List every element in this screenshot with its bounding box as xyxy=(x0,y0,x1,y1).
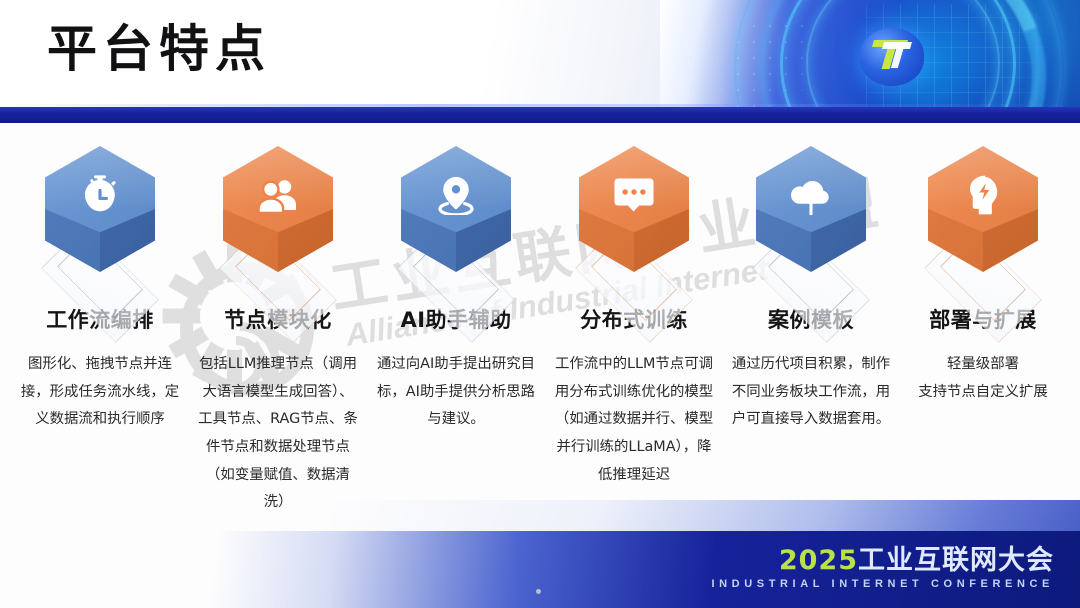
feature-card-5[interactable]: 案例模板通过历代项目积累，制作不同业务板块工作流，用户可直接导入数据套用。 xyxy=(723,140,899,434)
title-rule xyxy=(0,107,1080,123)
location-pin-icon xyxy=(401,164,511,226)
feature-columns: 工作流编排图形化、拖拽节点并连接，形成任务流水线，定义数据流和执行顺序节点模块化… xyxy=(0,140,1080,540)
conference-name-cn: 工业互联网大会 xyxy=(858,545,1054,576)
users-icon xyxy=(223,164,333,226)
feature-desc-4: 工作流中的LLM节点可调用分布式训练优化的模型（如通过数据并行、模型并行训练的L… xyxy=(546,351,722,489)
feature-card-6[interactable]: 部署与扩展轻量级部署支持节点自定义扩展 xyxy=(895,140,1071,406)
feature-card-4[interactable]: 分布式训练工作流中的LLM节点可调用分布式训练优化的模型（如通过数据并行、模型并… xyxy=(546,140,722,489)
hex-badge-1 xyxy=(12,140,188,290)
hex-badge-6 xyxy=(895,140,1071,290)
cloud-upload-icon xyxy=(756,164,866,226)
feature-desc-3: 通过向AI助手提出研究目标，AI助手提供分析思路与建议。 xyxy=(368,351,544,434)
feature-desc-1: 图形化、拖拽节点并连接，形成任务流水线，定义数据流和执行顺序 xyxy=(12,351,188,434)
conference-logo: 2025工业互联网大会 INDUSTRIAL INTERNET CONFEREN… xyxy=(711,547,1054,590)
chat-bubble-icon xyxy=(579,164,689,226)
hex-badge-4 xyxy=(546,140,722,290)
hex-badge-3 xyxy=(368,140,544,290)
slide-header: 平台特点 xyxy=(0,0,1080,112)
feature-card-1[interactable]: 工作流编排图形化、拖拽节点并连接，形成任务流水线，定义数据流和执行顺序 xyxy=(12,140,188,434)
header-dot-matrix xyxy=(666,18,816,108)
t-logo-icon xyxy=(873,40,913,70)
feature-desc-5: 通过历代项目积累，制作不同业务板块工作流，用户可直接导入数据套用。 xyxy=(723,351,899,434)
feature-card-3[interactable]: AI助手辅助通过向AI助手提出研究目标，AI助手提供分析思路与建议。 xyxy=(368,140,544,434)
feature-desc-2: 包括LLM推理节点（调用大语言模型生成回答）、工具节点、RAG节点、条件节点和数… xyxy=(190,351,366,517)
page-title: 平台特点 xyxy=(47,24,271,74)
page-indicator-dot xyxy=(536,589,541,594)
hex-badge-2 xyxy=(190,140,366,290)
stopwatch-icon xyxy=(45,164,155,226)
hex-badge-5 xyxy=(723,140,899,290)
feature-card-2[interactable]: 节点模块化包括LLM推理节点（调用大语言模型生成回答）、工具节点、RAG节点、条… xyxy=(190,140,366,517)
conference-year: 2025 xyxy=(779,545,858,576)
slide-root: 平台特点 工业互联网产业联盟 Alliance of Industrial In… xyxy=(0,0,1080,608)
feature-desc-6: 轻量级部署支持节点自定义扩展 xyxy=(895,351,1071,406)
conference-name-en: INDUSTRIAL INTERNET CONFERENCE xyxy=(711,578,1054,590)
header-tech-artwork xyxy=(660,0,1080,112)
brain-bolt-icon xyxy=(928,164,1038,226)
